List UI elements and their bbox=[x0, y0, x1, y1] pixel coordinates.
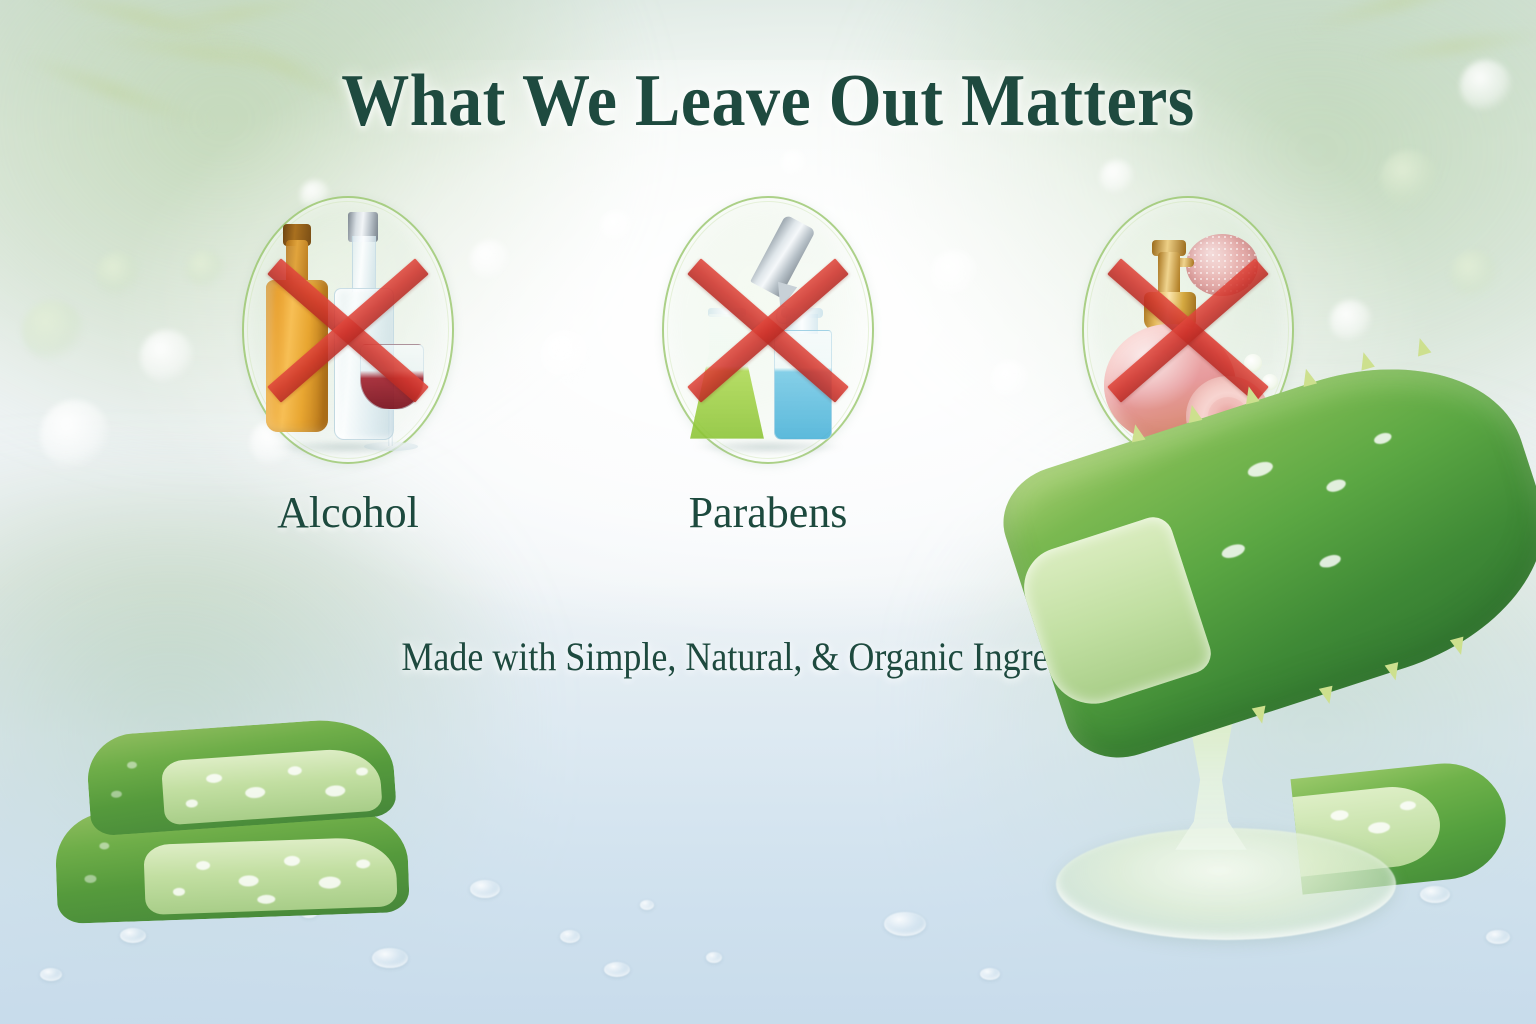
blue-liquid-vial bbox=[774, 330, 832, 440]
contact-shadow bbox=[273, 440, 423, 454]
erlenmeyer-flask bbox=[690, 314, 764, 439]
no-alcohol-icon bbox=[242, 196, 454, 464]
aloe-leaf-pouring-gel bbox=[976, 420, 1536, 980]
item-label-alcohol: Alcohol bbox=[277, 488, 419, 537]
clear-bottle-neck bbox=[352, 236, 376, 292]
poster-canvas: What We Leave Out Matters bbox=[0, 0, 1536, 1024]
whiskey-bottle bbox=[266, 280, 328, 432]
no-parabens-icon bbox=[662, 196, 874, 464]
parabens-artwork bbox=[662, 196, 874, 464]
red-wine-glass bbox=[360, 344, 424, 410]
aloe-slice-top bbox=[85, 715, 397, 836]
item-label-parabens: Parabens bbox=[689, 488, 848, 537]
item-alcohol: Alcohol bbox=[138, 196, 558, 537]
white-blossoms bbox=[1244, 354, 1262, 372]
page-title: What We Leave Out Matters bbox=[61, 64, 1474, 138]
white-blossoms bbox=[1262, 374, 1278, 390]
stacked-aloe-slices bbox=[56, 712, 436, 912]
alcohol-artwork bbox=[242, 196, 454, 464]
item-parabens: Parabens bbox=[558, 196, 978, 537]
contact-shadow bbox=[693, 440, 843, 454]
atomizer-bulb bbox=[1186, 234, 1258, 296]
